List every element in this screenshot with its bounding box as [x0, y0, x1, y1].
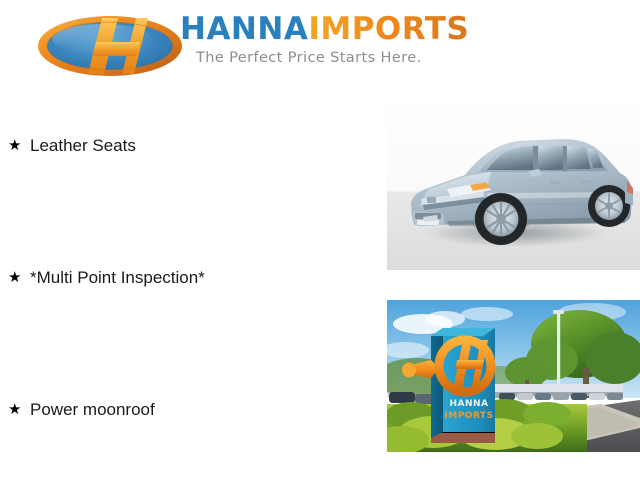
- dealership-photo[interactable]: 310 HANNA IMPORTS: [387, 300, 640, 452]
- hanna-oval-h-logo-icon: [36, 14, 184, 78]
- brand-header: HANNAIMPORTS The Perfect Price Starts He…: [0, 0, 640, 92]
- dealership-photo-svg: 310 HANNA IMPORTS: [387, 300, 640, 452]
- wordmark-imports: IMPORTS: [308, 11, 469, 47]
- svg-text:IMPORTS: IMPORTS: [444, 411, 493, 421]
- list-item: ★ *Multi Point Inspection*: [8, 268, 205, 288]
- wordmark-hanna: HANNA: [180, 11, 308, 47]
- vehicle-photo[interactable]: [387, 93, 640, 270]
- star-bullet-icon: ★: [8, 136, 30, 156]
- logo-svg: [36, 14, 184, 78]
- feature-label: *Multi Point Inspection*: [30, 268, 205, 288]
- svg-text:HANNA: HANNA: [449, 399, 488, 409]
- wordmark-row: HANNAIMPORTS: [180, 12, 520, 46]
- list-item: ★ Leather Seats: [8, 136, 136, 156]
- star-bullet-icon: ★: [8, 400, 30, 420]
- brand-wordmark: HANNAIMPORTS The Perfect Price Starts He…: [180, 12, 520, 80]
- feature-label: Leather Seats: [30, 136, 136, 156]
- feature-list: ★ Leather Seats ★ *Multi Point Inspectio…: [0, 92, 380, 480]
- star-bullet-icon: ★: [8, 268, 30, 288]
- feature-label: Power moonroof: [30, 400, 155, 420]
- list-item: ★ Power moonroof: [8, 400, 155, 420]
- brand-tagline: The Perfect Price Starts Here.: [180, 50, 520, 66]
- vehicle-photo-svg: [387, 93, 640, 270]
